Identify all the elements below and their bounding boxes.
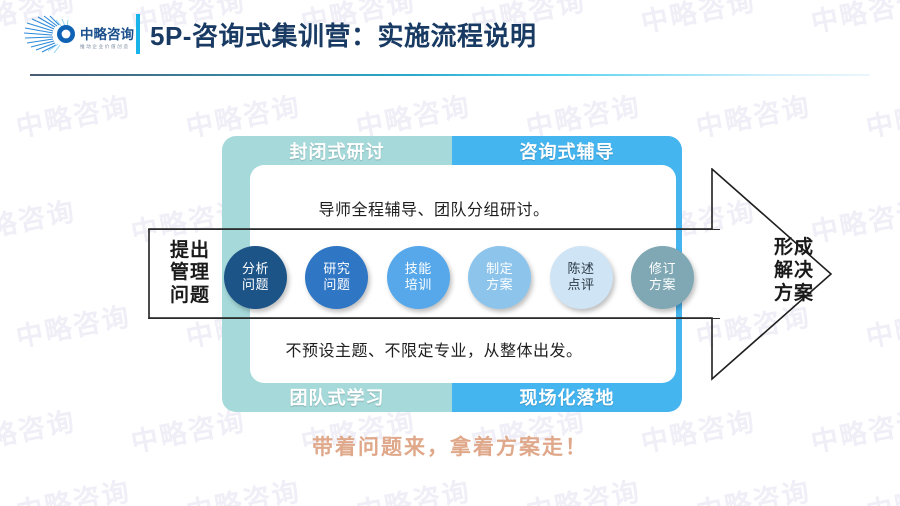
chinaline-logo: 中略咨询 推动企业价值创造 bbox=[22, 14, 134, 56]
step-circle-line-2: 方案 bbox=[486, 277, 513, 293]
page-title: 5P-咨询式集训营：实施流程说明 bbox=[150, 16, 536, 53]
step-circle-line-2: 点评 bbox=[568, 277, 595, 293]
step-circle-line-2: 问题 bbox=[242, 277, 269, 293]
step-circle: 分析问题 bbox=[224, 246, 287, 309]
input-label-line-1: 提出 bbox=[170, 240, 210, 262]
step-circle-line-2: 问题 bbox=[323, 277, 350, 293]
statement-bottom: 不预设主题、不限定专业，从整体出发。 bbox=[148, 337, 720, 361]
step-circle-line-1: 研究 bbox=[323, 261, 350, 277]
svg-text:中略咨询: 中略咨询 bbox=[80, 26, 134, 43]
divider-above-circles bbox=[148, 229, 720, 230]
statement-top: 导师全程辅导、团队分组研讨。 bbox=[148, 196, 720, 220]
step-circle: 陈述点评 bbox=[550, 246, 613, 309]
step-circle-line-1: 分析 bbox=[242, 261, 269, 277]
step-circle-line-2: 方案 bbox=[649, 277, 676, 293]
header-divider bbox=[30, 74, 870, 76]
step-circle-line-1: 陈述 bbox=[568, 261, 595, 277]
input-label-line-2: 管理 bbox=[170, 262, 210, 284]
step-circle-line-1: 制定 bbox=[486, 261, 513, 277]
step-circle: 修订方案 bbox=[631, 246, 694, 309]
outcome-label-line-3: 方案 bbox=[748, 282, 840, 305]
step-circle: 制定方案 bbox=[468, 246, 531, 309]
step-circle-line-2: 培训 bbox=[405, 277, 432, 293]
step-circle-row: 分析问题研究问题技能培训制定方案陈述点评修订方案 bbox=[224, 245, 694, 309]
step-circle: 技能培训 bbox=[387, 246, 450, 309]
input-label-box: 提出 管理 问题 bbox=[149, 229, 231, 318]
outcome-label-line-2: 解决 bbox=[748, 259, 840, 282]
step-circle-line-1: 修订 bbox=[649, 261, 676, 277]
input-label-line-3: 问题 bbox=[170, 285, 210, 307]
step-circle-line-1: 技能 bbox=[405, 261, 432, 277]
step-circle: 研究问题 bbox=[305, 246, 368, 309]
band-top-left-label: 封闭式研讨 bbox=[222, 136, 452, 166]
title-accent-bar bbox=[136, 14, 140, 54]
band-top-right-label: 咨询式辅导 bbox=[452, 136, 682, 166]
page-header: 中略咨询 推动企业价值创造 5P-咨询式集训营：实施流程说明 bbox=[0, 0, 900, 70]
tagline: 带着问题来，拿着方案走！ bbox=[0, 431, 900, 461]
outcome-label-line-1: 形成 bbox=[748, 236, 840, 259]
outcome-label: 形成 解决 方案 bbox=[748, 236, 840, 306]
divider-below-circles bbox=[148, 318, 720, 319]
svg-text:推动企业价值创造: 推动企业价值创造 bbox=[80, 43, 130, 50]
